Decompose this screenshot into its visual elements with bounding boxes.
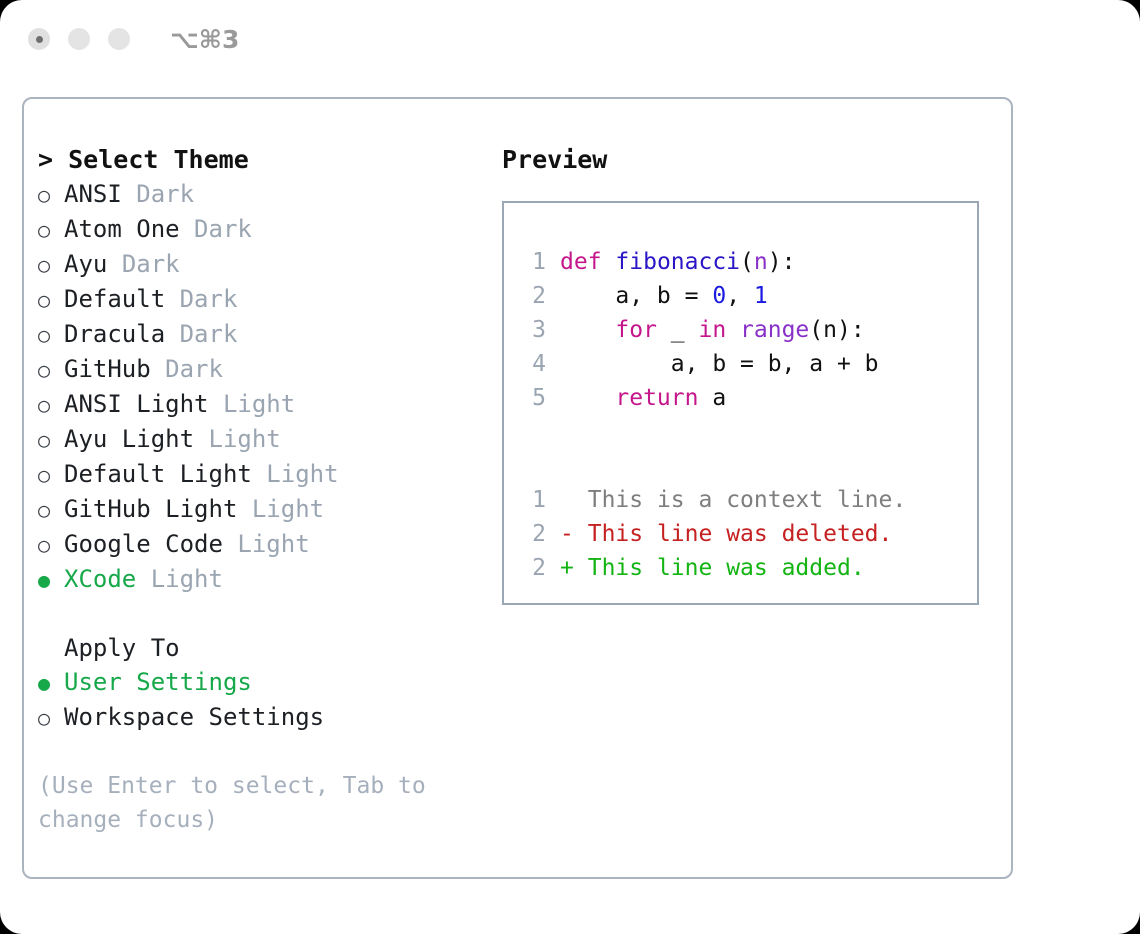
code-token: a [698, 385, 726, 411]
theme-item-label: Default Light [64, 457, 252, 491]
code-token: fibonacci [615, 249, 740, 275]
code-token: return [615, 385, 698, 411]
theme-item-badge [122, 177, 136, 211]
line-number: 3 [522, 313, 546, 347]
theme-item-ayu-light[interactable]: ○Ayu Light Light [38, 422, 508, 457]
code-line: 1def fibonacci(n): [522, 245, 977, 279]
close-icon [36, 36, 43, 43]
radio-unselected-icon: ○ [38, 248, 64, 282]
select-theme-label: Select Theme [68, 145, 249, 174]
theme-item-label: ANSI [64, 177, 122, 211]
theme-item-badge-text: Light [151, 562, 223, 596]
app-window: ⌥⌘3 > Select Theme ○ANSI Dark ○Atom One … [0, 0, 1140, 934]
preview-column: Preview 1def fibonacci(n): 2 a, b = 0, 1… [502, 143, 1002, 605]
theme-item-label: Atom One [64, 212, 180, 246]
code-token: a, b = [560, 283, 712, 309]
select-theme-heading: > Select Theme [38, 143, 508, 177]
theme-item-github[interactable]: ○GitHub Dark [38, 352, 508, 387]
theme-item-badge-text: Dark [165, 352, 223, 386]
line-number: 2 [522, 279, 546, 313]
code-token [560, 385, 615, 411]
diff-sign: + [560, 555, 574, 581]
close-button[interactable] [28, 28, 50, 50]
preview-box: 1def fibonacci(n): 2 a, b = 0, 1 3 for _… [502, 201, 979, 605]
theme-item-xcode[interactable]: ●XCode Light [38, 562, 508, 597]
preview-heading: Preview [502, 143, 1002, 177]
focus-caret-icon: > [38, 145, 53, 174]
diff-text: This line was added. [588, 555, 865, 581]
theme-item-ayu[interactable]: ○Ayu Dark [38, 247, 508, 282]
code-token: range [740, 317, 809, 343]
radio-unselected-icon: ○ [38, 423, 64, 457]
theme-item-atom-one[interactable]: ○Atom One Dark [38, 212, 508, 247]
radio-selected-icon: ● [38, 666, 64, 700]
line-number: 5 [522, 381, 546, 415]
code-token: n [754, 249, 768, 275]
theme-item-dracula[interactable]: ○Dracula Dark [38, 317, 508, 352]
theme-item-github-light[interactable]: ○GitHub Light Light [38, 492, 508, 527]
code-token: a, b = b, a + b [560, 351, 879, 377]
line-number: 1 [522, 483, 546, 517]
theme-item-google-code[interactable]: ○Google Code Light [38, 527, 508, 562]
code-token [602, 249, 616, 275]
diff-line-context: 1 This is a context line. [522, 483, 977, 517]
code-line: 2 a, b = 0, 1 [522, 279, 977, 313]
theme-list: ○ANSI Dark ○Atom One Dark ○Ayu Dark ○Def… [38, 177, 508, 597]
theme-item-label: Default [64, 282, 165, 316]
apply-to-item-label: User Settings [64, 665, 252, 699]
line-number: 1 [522, 245, 546, 279]
apply-to-list: ●User Settings ○Workspace Settings [38, 665, 508, 735]
code-token: def [560, 249, 602, 275]
diff-text: This line was deleted. [588, 521, 893, 547]
code-token: (n): [809, 317, 864, 343]
code-token: ( [740, 249, 754, 275]
code-token: 1 [754, 283, 768, 309]
theme-item-label: Ayu Light [64, 422, 194, 456]
theme-item-badge-text: Light [252, 492, 324, 526]
theme-item-badge-text: Light [237, 527, 309, 561]
theme-item-label: XCode [64, 562, 136, 596]
radio-unselected-icon: ○ [38, 528, 64, 562]
theme-item-label: GitHub [64, 352, 151, 386]
code-token: ): [768, 249, 796, 275]
line-number: 4 [522, 347, 546, 381]
code-line: 3 for _ in range(n): [522, 313, 977, 347]
theme-item-label: ANSI Light [64, 387, 209, 421]
code-line: 5 return a [522, 381, 977, 415]
diff-line-added: 2+ This line was added. [522, 551, 977, 585]
theme-item-badge-text: Dark [122, 247, 180, 281]
theme-item-default[interactable]: ○Default Dark [38, 282, 508, 317]
code-line: 4 a, b = b, a + b [522, 347, 977, 381]
code-token: for [615, 317, 657, 343]
radio-selected-icon: ● [38, 563, 64, 597]
code-blank-line [522, 415, 977, 449]
radio-unselected-icon: ○ [38, 701, 64, 735]
radio-unselected-icon: ○ [38, 213, 64, 247]
code-token [560, 317, 615, 343]
code-token: _ [657, 317, 699, 343]
radio-unselected-icon: ○ [38, 388, 64, 422]
theme-item-default-light[interactable]: ○Default Light Light [38, 457, 508, 492]
theme-item-label: Ayu [64, 247, 107, 281]
radio-unselected-icon: ○ [38, 353, 64, 387]
theme-item-ansi-light[interactable]: ○ANSI Light Light [38, 387, 508, 422]
radio-unselected-icon: ○ [38, 318, 64, 352]
theme-item-label: GitHub Light [64, 492, 237, 526]
maximize-button[interactable] [108, 28, 130, 50]
diff-text: This is a context line. [588, 487, 907, 513]
diff-line-deleted: 2- This line was deleted. [522, 517, 977, 551]
code-token [726, 317, 740, 343]
radio-unselected-icon: ○ [38, 493, 64, 527]
minimize-button[interactable] [68, 28, 90, 50]
theme-item-badge-text: Dark [136, 177, 194, 211]
radio-unselected-icon: ○ [38, 178, 64, 212]
code-token: , [726, 283, 754, 309]
code-blank-line [522, 449, 977, 483]
apply-to-item-label: Workspace Settings [64, 700, 324, 734]
theme-item-badge-text: Dark [194, 212, 252, 246]
theme-item-badge-text: Dark [180, 282, 238, 316]
radio-unselected-icon: ○ [38, 283, 64, 317]
code-token: 0 [712, 283, 726, 309]
diff-sign [560, 487, 574, 513]
apply-to-heading: Apply To [38, 631, 508, 665]
line-number: 2 [522, 517, 546, 551]
section-spacer [38, 597, 508, 631]
theme-item-label: Dracula [64, 317, 165, 351]
theme-item-badge-text: Dark [180, 317, 238, 351]
code-token: in [698, 317, 726, 343]
window-title: ⌥⌘3 [170, 25, 239, 54]
theme-item-badge-text: Light [266, 457, 338, 491]
apply-to-item-workspace-settings[interactable]: ○Workspace Settings [38, 700, 508, 735]
radio-unselected-icon: ○ [38, 458, 64, 492]
apply-to-item-user-settings[interactable]: ●User Settings [38, 665, 508, 700]
theme-item-ansi[interactable]: ○ANSI Dark [38, 177, 508, 212]
theme-picker-column: > Select Theme ○ANSI Dark ○Atom One Dark… [38, 143, 508, 837]
theme-item-label: Google Code [64, 527, 223, 561]
main-panel: > Select Theme ○ANSI Dark ○Atom One Dark… [22, 97, 1013, 879]
line-number: 2 [522, 551, 546, 585]
theme-item-badge-text: Light [223, 387, 295, 421]
keyboard-hint-text: (Use Enter to select, Tab to change focu… [38, 769, 448, 837]
traffic-light-group [28, 28, 130, 50]
diff-sign: - [560, 521, 574, 547]
theme-item-badge-text: Light [209, 422, 281, 456]
title-bar: ⌥⌘3 [0, 0, 1140, 78]
